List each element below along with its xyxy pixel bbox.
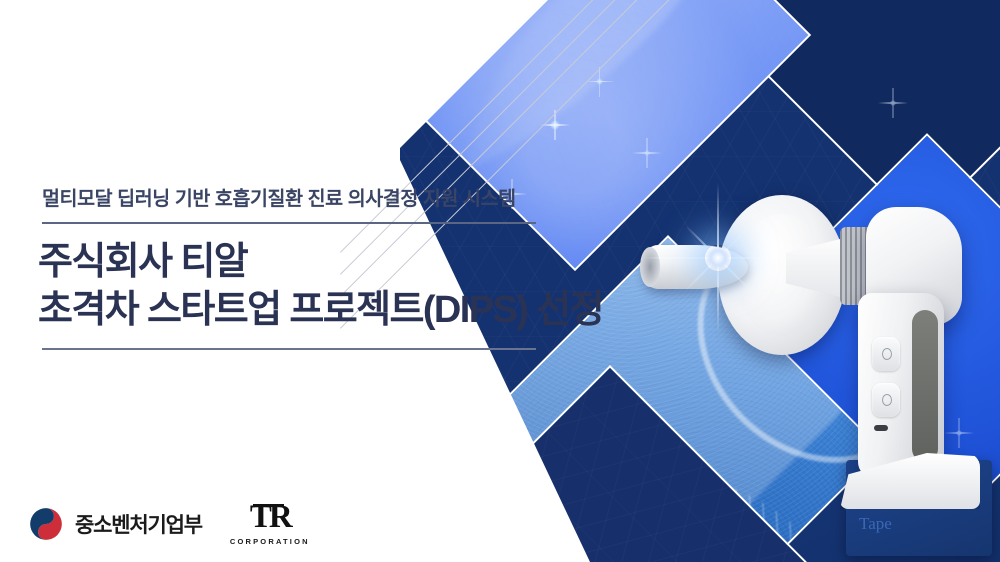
device-mode-button bbox=[872, 383, 900, 417]
mechano-tape-subtitle: Tape bbox=[859, 514, 892, 534]
tr-monogram-bar bbox=[253, 504, 284, 507]
ministry-logo: 중소벤처기업부 bbox=[28, 506, 202, 542]
taegeuk-icon bbox=[28, 506, 64, 542]
device-power-button bbox=[872, 337, 900, 371]
page-title-line-1: 주식회사 티알 bbox=[38, 240, 247, 286]
tr-corporation-logo: TR CORPORATION bbox=[230, 502, 310, 545]
footer-logos: 중소벤처기업부 TR CORPORATION bbox=[28, 498, 310, 550]
device-led-indicator bbox=[874, 425, 888, 431]
headline-block: 멀티모달 딥러닝 기반 호흡기질환 진료 의사결정 지원 시스템 주식회사 티알… bbox=[0, 0, 600, 562]
poster-canvas: Mechano Tape bbox=[0, 0, 1000, 562]
divider-top bbox=[42, 222, 536, 224]
project-subtitle: 멀티모달 딥러닝 기반 호흡기질환 진료 의사결정 지원 시스템 bbox=[42, 182, 516, 211]
ministry-name: 중소벤처기업부 bbox=[75, 509, 202, 539]
page-title-line-2: 초격차 스타트업 프로젝트(DIPS) 선정 bbox=[38, 288, 603, 334]
tr-corporation-subtext: CORPORATION bbox=[230, 537, 310, 546]
tr-monogram: TR bbox=[250, 502, 290, 533]
handheld-medical-device-icon bbox=[690, 185, 980, 515]
divider-bottom bbox=[42, 348, 536, 350]
